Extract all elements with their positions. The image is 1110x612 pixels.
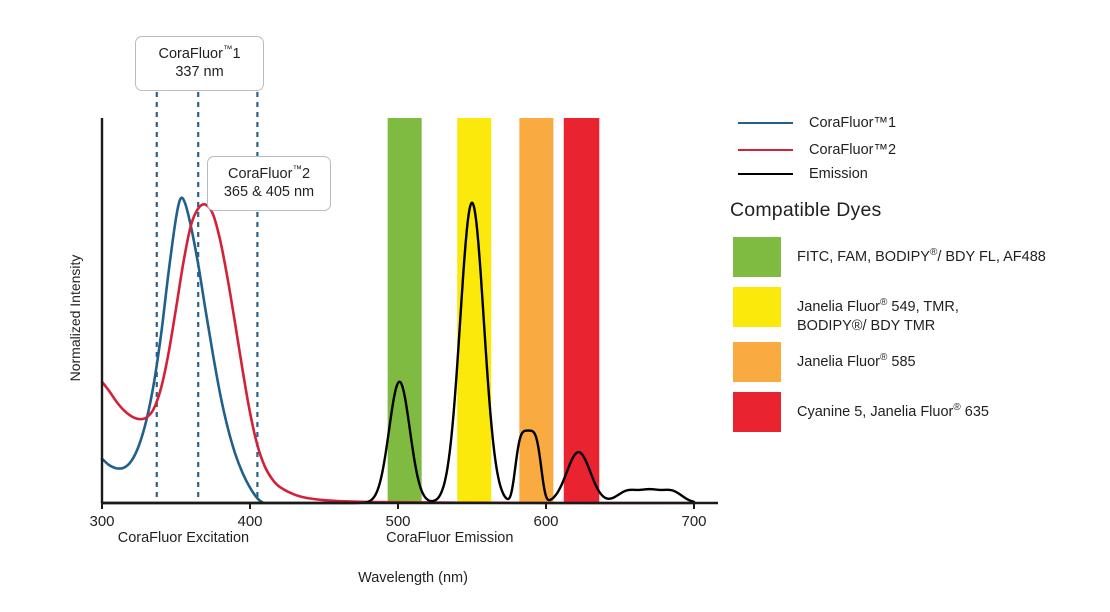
dye-label: Janelia Fluor® 549, TMR,BODIPY®/ BDY TMR — [797, 287, 959, 336]
trademark-symbol: ™ — [223, 44, 233, 55]
registered-symbol: ® — [930, 247, 937, 258]
dye-label-line1: Janelia Fluor® 549, TMR, — [797, 299, 959, 315]
dye-label-line1: Cyanine 5, Janelia Fluor® 635 — [797, 404, 989, 420]
orange-band — [519, 118, 553, 503]
x-tick-label-400: 400 — [237, 513, 262, 530]
dye-label-line1: FITC, FAM, BODIPY®/ BDY FL, AF488 — [797, 249, 1046, 265]
dye-color-swatch — [733, 237, 781, 277]
dye-label-line2: BODIPY®/ BDY TMR — [797, 317, 959, 336]
legend-line-swatch — [738, 149, 793, 151]
dye-label-line1: Janelia Fluor® 585 — [797, 354, 916, 370]
legend-line-swatch — [738, 122, 793, 124]
dye-row-3: Cyanine 5, Janelia Fluor® 635 — [733, 392, 989, 432]
callout-line1: CoraFluor™2 — [222, 164, 316, 183]
registered-symbol: ® — [953, 402, 960, 413]
axis-span-label-0: CoraFluor Excitation — [118, 530, 249, 546]
dye-row-2: Janelia Fluor® 585 — [733, 342, 916, 382]
x-axis-title: Wavelength (nm) — [358, 570, 468, 586]
spectra-plot: 300400500600700CoraFluor ExcitationCoraF… — [0, 0, 730, 612]
legend-panel: CoraFluor™1CoraFluor™2Emission Compatibl… — [730, 0, 1110, 612]
x-tick-label-700: 700 — [681, 513, 706, 530]
red-band — [564, 118, 600, 503]
dye-color-swatch — [733, 342, 781, 382]
callout-line1: CoraFluor™1 — [150, 44, 249, 63]
x-tick-label-600: 600 — [533, 513, 558, 530]
y-axis-title: Normalized Intensity — [67, 255, 83, 382]
dye-color-swatch — [733, 392, 781, 432]
dye-row-1: Janelia Fluor® 549, TMR,BODIPY®/ BDY TMR — [733, 287, 959, 336]
corafluor2-callout: CoraFluor™2 365 & 405 nm — [207, 156, 331, 211]
legend-series-label: CoraFluor™2 — [809, 142, 896, 158]
chart-area: 300400500600700CoraFluor ExcitationCoraF… — [0, 0, 730, 612]
callout-line2: 337 nm — [150, 63, 249, 82]
dye-label: FITC, FAM, BODIPY®/ BDY FL, AF488 — [797, 237, 1046, 267]
compatible-dyes-title: Compatible Dyes — [730, 199, 881, 222]
callout-line2: 365 & 405 nm — [222, 183, 316, 202]
legend-series-row-1: CoraFluor™2 — [738, 142, 896, 158]
legend-series-row-2: Emission — [738, 166, 868, 182]
axis-span-label-1: CoraFluor Emission — [386, 530, 513, 546]
corafluor1-callout: CoraFluor™1 337 nm — [135, 36, 264, 91]
legend-series-label: CoraFluor™1 — [809, 115, 896, 131]
yellow-band — [457, 118, 491, 503]
dye-color-swatch — [733, 287, 781, 327]
legend-series-label: Emission — [809, 166, 868, 182]
registered-symbol: ® — [880, 352, 887, 363]
x-tick-label-500: 500 — [385, 513, 410, 530]
dye-label: Janelia Fluor® 585 — [797, 342, 916, 372]
dye-row-0: FITC, FAM, BODIPY®/ BDY FL, AF488 — [733, 237, 1046, 277]
chart-page: 300400500600700CoraFluor ExcitationCoraF… — [0, 0, 1110, 612]
dye-label: Cyanine 5, Janelia Fluor® 635 — [797, 392, 989, 422]
trademark-symbol: ™ — [292, 164, 302, 175]
x-tick-label-300: 300 — [89, 513, 114, 530]
legend-line-swatch — [738, 173, 793, 175]
green-band — [388, 118, 422, 503]
legend-series-row-0: CoraFluor™1 — [738, 115, 896, 131]
registered-symbol: ® — [880, 297, 887, 308]
